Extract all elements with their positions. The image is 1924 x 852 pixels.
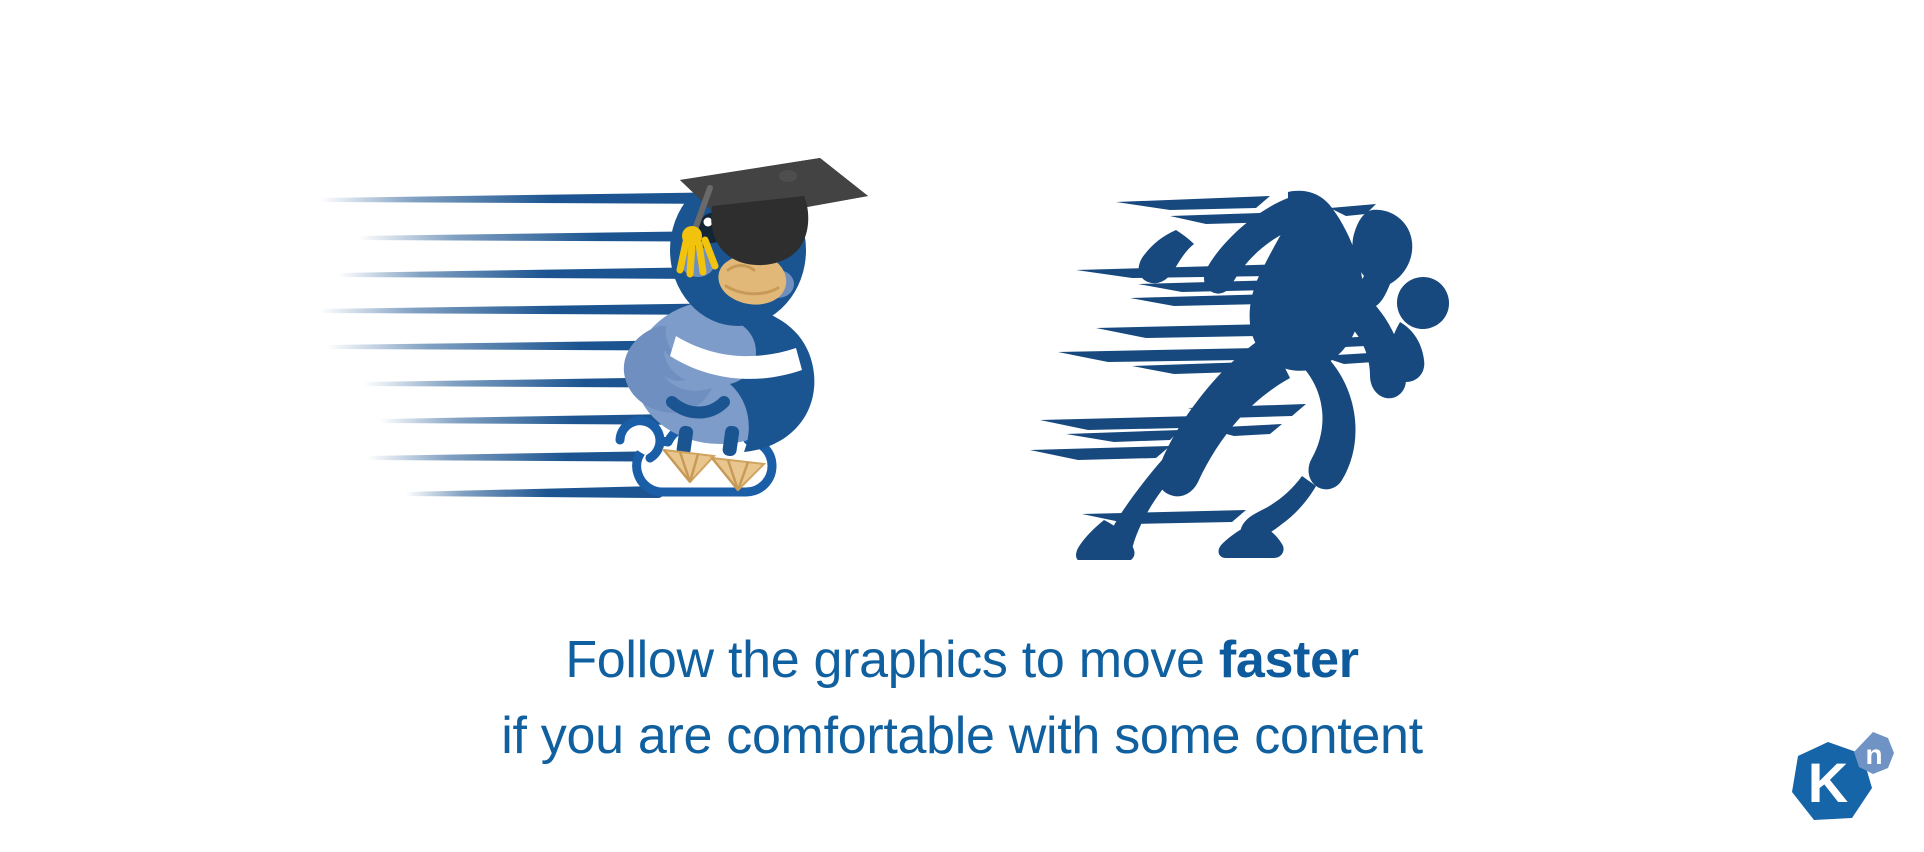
caption-line-2: if you are comfortable with some content	[0, 704, 1924, 770]
caption-emphasis-faster: faster	[1219, 631, 1359, 689]
slide-root: Follow the graphics to move faster if yo…	[0, 0, 1924, 852]
kn-brand-logo[interactable]: K n	[1784, 724, 1902, 842]
caption-block: Follow the graphics to move faster if yo…	[0, 628, 1924, 769]
caption-line-1: Follow the graphics to move faster	[0, 628, 1924, 694]
sprinting-runner-silhouette	[1020, 170, 1460, 560]
graphics-area	[0, 0, 1924, 560]
logo-letter-k: K	[1808, 751, 1848, 814]
logo-letter-n: n	[1865, 739, 1882, 770]
caption-line-1-prefix: Follow the graphics to move	[565, 631, 1218, 689]
graduate-bird-mascot	[320, 140, 1020, 540]
